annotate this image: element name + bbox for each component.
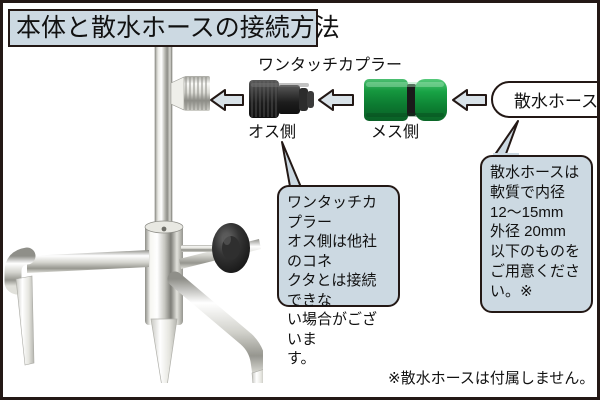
note-bubble-coupler-text: ワンタッチカプラー オス側は他社のコネ クタとは接続できな い場合がございま す… xyxy=(287,193,391,369)
footnote: ※散水ホースは付属しません。 xyxy=(388,371,594,386)
center-spike xyxy=(151,319,177,383)
one-touch-coupler-female xyxy=(364,79,447,121)
tripod-leg-right xyxy=(175,279,263,383)
label-female-side: メス側 xyxy=(371,125,419,141)
label-male-side: オス側 xyxy=(248,125,296,141)
flow-arrow-2 xyxy=(319,90,353,110)
note-bubble-hose-spec-text: 散水ホースは 軟質で内径 12～15mm 外径 20mm 以下のものを ご用意く… xyxy=(490,163,584,302)
flow-arrow-3 xyxy=(453,90,486,110)
chrome-pole xyxy=(155,43,172,225)
page-title-text: 本体と散水ホースの接続方法 xyxy=(16,16,340,41)
label-coupler: ワンタッチカプラー xyxy=(258,58,402,74)
callout-hose: 散水ホース xyxy=(491,81,600,118)
callout-hose-text: 散水ホース xyxy=(514,87,598,112)
page-title: 本体と散水ホースの接続方法 xyxy=(8,9,318,47)
note-bubble-hose-spec: 散水ホースは 軟質で内径 12～15mm 外径 20mm 以下のものを ご用意く… xyxy=(480,155,593,313)
sprinkler-stand-illustration xyxy=(3,43,263,383)
threaded-nipple-connector xyxy=(171,76,210,111)
note-bubble-coupler: ワンタッチカプラー オス側は他社のコネ クタとは接続できな い場合がございま す… xyxy=(277,185,400,307)
diagram-canvas: 本体と散水ホースの接続方法 ワンタッチカプラー オス側 メス側 散水ホース ワン… xyxy=(0,0,600,400)
tripod-leg-left xyxy=(13,250,149,365)
